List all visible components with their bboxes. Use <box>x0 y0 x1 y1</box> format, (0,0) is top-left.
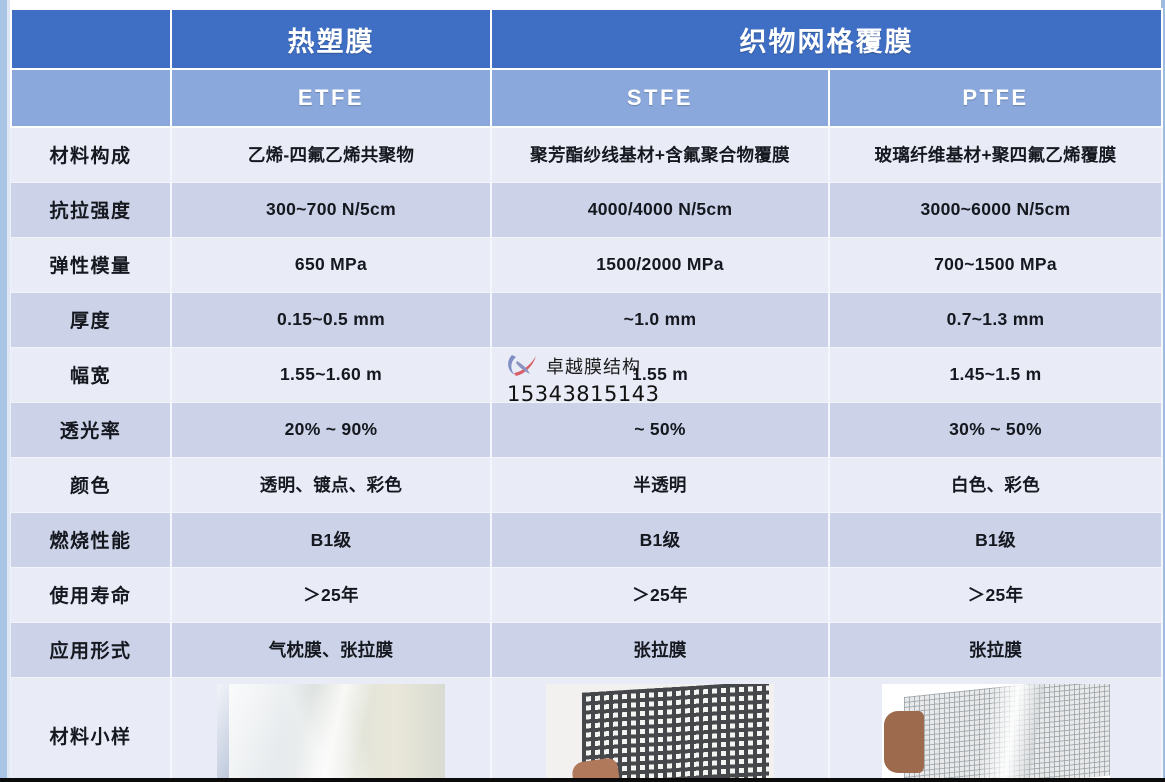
cell-etfe-application-form: 气枕膜、张拉膜 <box>171 622 491 677</box>
row-label-service-life: 使用寿命 <box>11 567 171 622</box>
header-corner-cell <box>11 9 171 69</box>
stfe-woven-grid-mesh-photo <box>546 684 774 782</box>
cell-ptfe-thickness: 0.7~1.3 mm <box>829 292 1162 347</box>
cell-etfe-thickness: 0.15~0.5 mm <box>171 292 491 347</box>
column-header-etfe: ETFE <box>171 69 491 127</box>
cell-stfe-material-composition: 聚芳酯纱线基材+含氟聚合物覆膜 <box>491 127 829 182</box>
cell-stfe-sample <box>491 677 829 782</box>
cell-stfe-combustion-performance: B1级 <box>491 512 829 567</box>
hand-holding-sample <box>884 711 924 773</box>
cell-stfe-light-transmittance: ~ 50% <box>491 402 829 457</box>
group-header-woven-mesh-coated: 织物网格覆膜 <box>491 9 1162 69</box>
material-comparison-table: 热塑膜 织物网格覆膜 ETFE STFE PTFE 材料构成 乙烯-四氟乙烯共聚… <box>10 8 1163 782</box>
etfe-transparent-film-photo <box>217 684 445 782</box>
row-label-light-transmittance: 透光率 <box>11 402 171 457</box>
cell-etfe-tensile-strength: 300~700 N/5cm <box>171 182 491 237</box>
row-label-combustion-performance: 燃烧性能 <box>11 512 171 567</box>
row-label-thickness: 厚度 <box>11 292 171 347</box>
material-comparison-table-wrapper: 热塑膜 织物网格覆膜 ETFE STFE PTFE 材料构成 乙烯-四氟乙烯共聚… <box>10 8 1161 782</box>
column-header-row: ETFE STFE PTFE <box>11 69 1162 127</box>
cell-ptfe-color: 白色、彩色 <box>829 457 1162 512</box>
group-header-thermoplastic: 热塑膜 <box>171 9 491 69</box>
cell-ptfe-width: 1.45~1.5 m <box>829 347 1162 402</box>
row-label-application-form: 应用形式 <box>11 622 171 677</box>
column-header-ptfe: PTFE <box>829 69 1162 127</box>
cell-etfe-width: 1.55~1.60 m <box>171 347 491 402</box>
cell-ptfe-light-transmittance: 30% ~ 50% <box>829 402 1162 457</box>
cell-ptfe-service-life: ＞25年 <box>829 567 1162 622</box>
cell-stfe-application-form: 张拉膜 <box>491 622 829 677</box>
ptfe-white-mesh-roll-photo <box>882 684 1110 782</box>
cell-etfe-service-life: ＞25年 <box>171 567 491 622</box>
cell-ptfe-sample <box>829 677 1162 782</box>
column-header-stfe: STFE <box>491 69 829 127</box>
row-label-elastic-modulus: 弹性模量 <box>11 237 171 292</box>
cell-stfe-service-life: ＞25年 <box>491 567 829 622</box>
cell-ptfe-material-composition: 玻璃纤维基材+聚四氟乙烯覆膜 <box>829 127 1162 182</box>
table-row: 抗拉强度 300~700 N/5cm 4000/4000 N/5cm 3000~… <box>11 182 1162 237</box>
table-row: 材料构成 乙烯-四氟乙烯共聚物 聚芳酯纱线基材+含氟聚合物覆膜 玻璃纤维基材+聚… <box>11 127 1162 182</box>
subheader-corner-cell <box>11 69 171 127</box>
cell-stfe-elastic-modulus: 1500/2000 MPa <box>491 237 829 292</box>
cell-etfe-sample <box>171 677 491 782</box>
row-label-tensile-strength: 抗拉强度 <box>11 182 171 237</box>
cell-ptfe-application-form: 张拉膜 <box>829 622 1162 677</box>
cell-stfe-tensile-strength: 4000/4000 N/5cm <box>491 182 829 237</box>
material-sample-row: 材料小样 <box>11 677 1162 782</box>
table-row: 燃烧性能 B1级 B1级 B1级 <box>11 512 1162 567</box>
cell-etfe-elastic-modulus: 650 MPa <box>171 237 491 292</box>
cell-etfe-combustion-performance: B1级 <box>171 512 491 567</box>
cell-etfe-light-transmittance: 20% ~ 90% <box>171 402 491 457</box>
table-row: 使用寿命 ＞25年 ＞25年 ＞25年 <box>11 567 1162 622</box>
page-background: 热塑膜 织物网格覆膜 ETFE STFE PTFE 材料构成 乙烯-四氟乙烯共聚… <box>0 0 1165 782</box>
table-row: 透光率 20% ~ 90% ~ 50% 30% ~ 50% <box>11 402 1162 457</box>
table-row: 厚度 0.15~0.5 mm ~1.0 mm 0.7~1.3 mm <box>11 292 1162 347</box>
row-label-width: 幅宽 <box>11 347 171 402</box>
cell-stfe-color: 半透明 <box>491 457 829 512</box>
group-header-row: 热塑膜 织物网格覆膜 <box>11 9 1162 69</box>
table-row: 应用形式 气枕膜、张拉膜 张拉膜 张拉膜 <box>11 622 1162 677</box>
etfe-film-swatch <box>217 684 445 782</box>
row-label-material-sample: 材料小样 <box>11 677 171 782</box>
cell-ptfe-tensile-strength: 3000~6000 N/5cm <box>829 182 1162 237</box>
stfe-mesh-swatch <box>546 684 774 782</box>
cell-etfe-color: 透明、镀点、彩色 <box>171 457 491 512</box>
table-row: 弹性模量 650 MPa 1500/2000 MPa 700~1500 MPa <box>11 237 1162 292</box>
table-row: 幅宽 1.55~1.60 m 1.55 m 1.45~1.5 m <box>11 347 1162 402</box>
cell-stfe-width: 1.55 m <box>491 347 829 402</box>
cell-etfe-material-composition: 乙烯-四氟乙烯共聚物 <box>171 127 491 182</box>
row-label-color: 颜色 <box>11 457 171 512</box>
ptfe-mesh-swatch <box>882 684 1110 782</box>
row-label-material-composition: 材料构成 <box>11 127 171 182</box>
table-row: 颜色 透明、镀点、彩色 半透明 白色、彩色 <box>11 457 1162 512</box>
cell-ptfe-elastic-modulus: 700~1500 MPa <box>829 237 1162 292</box>
cell-stfe-thickness: ~1.0 mm <box>491 292 829 347</box>
cell-ptfe-combustion-performance: B1级 <box>829 512 1162 567</box>
bottom-crop-bar <box>0 778 1165 782</box>
